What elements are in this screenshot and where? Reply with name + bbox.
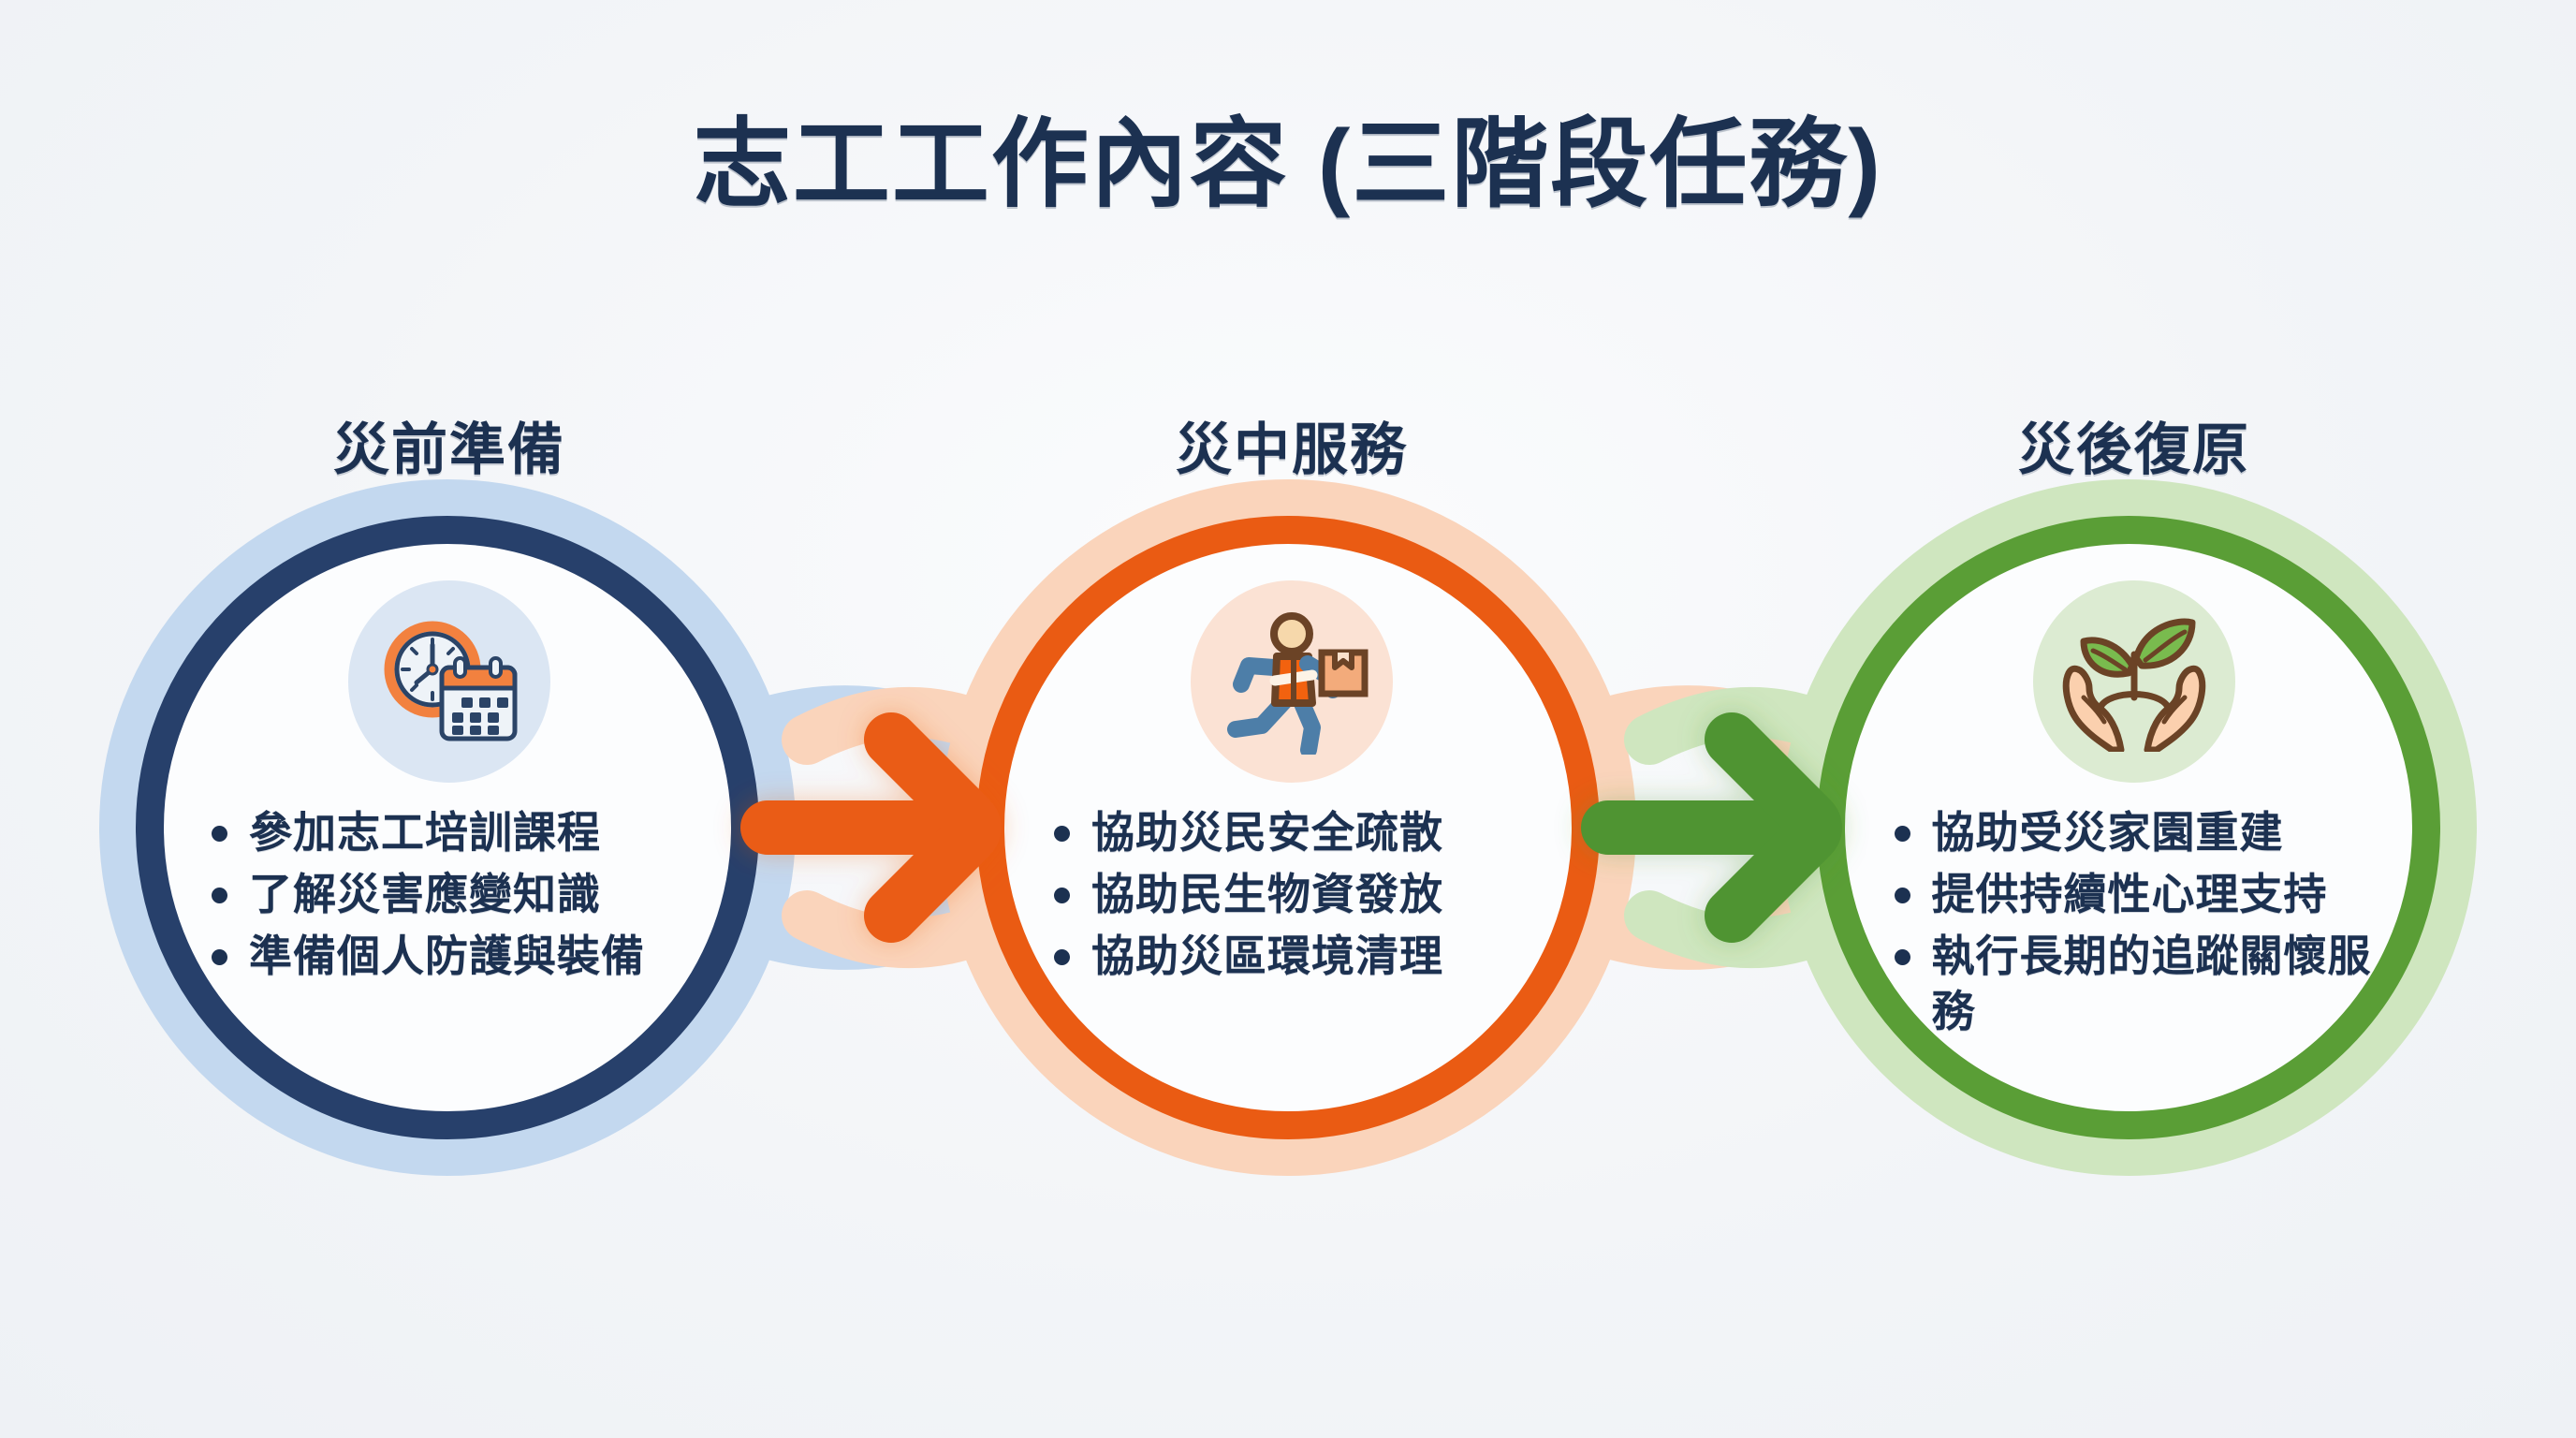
list-item: 了解災害應變知識 (197, 867, 702, 923)
infographic-canvas: 志工工作內容 (三階段任務) (0, 0, 2576, 1438)
stage-heading-1: 災前準備 (150, 404, 749, 486)
list-item: 提供持續性心理支持 (1880, 867, 2390, 923)
stage-card-2: 協助災民安全疏散 協助民生物資發放 協助災區環境清理 (992, 580, 1591, 990)
stage-3-bullet-list: 協助受災家園重建 提供持續性心理支持 執行長期的追蹤關懷服務 (1880, 805, 2390, 1046)
list-item: 協助災民安全疏散 (1039, 805, 1544, 861)
list-item: 協助受災家園重建 (1880, 805, 2390, 861)
stage-card-3: 協助受災家園重建 提供持續性心理支持 執行長期的追蹤關懷服務 (1835, 580, 2434, 1046)
list-item: 參加志工培訓課程 (197, 805, 702, 861)
stage-heading-3: 災後復原 (1835, 404, 2434, 486)
running-volunteer-with-box-icon (1191, 580, 1393, 783)
list-item: 準備個人防護與裝備 (197, 929, 702, 985)
stage-card-1: 參加志工培訓課程 了解災害應變知識 準備個人防護與裝備 (150, 580, 749, 990)
stage-2-bullet-list: 協助災民安全疏散 協助民生物資發放 協助災區環境清理 (1039, 805, 1544, 990)
arrow-stage2-to-stage3 (1608, 740, 1815, 916)
list-item: 協助民生物資發放 (1039, 867, 1544, 923)
stage-1-bullet-list: 參加志工培訓課程 了解災害應變知識 準備個人防護與裝備 (197, 805, 702, 990)
list-item: 協助災區環境清理 (1039, 929, 1544, 985)
stage-heading-2: 災中服務 (992, 404, 1591, 486)
list-item: 執行長期的追蹤關懷服務 (1880, 929, 2390, 1041)
clock-calendar-icon (348, 580, 550, 783)
hands-holding-sprout-icon (2033, 580, 2235, 783)
